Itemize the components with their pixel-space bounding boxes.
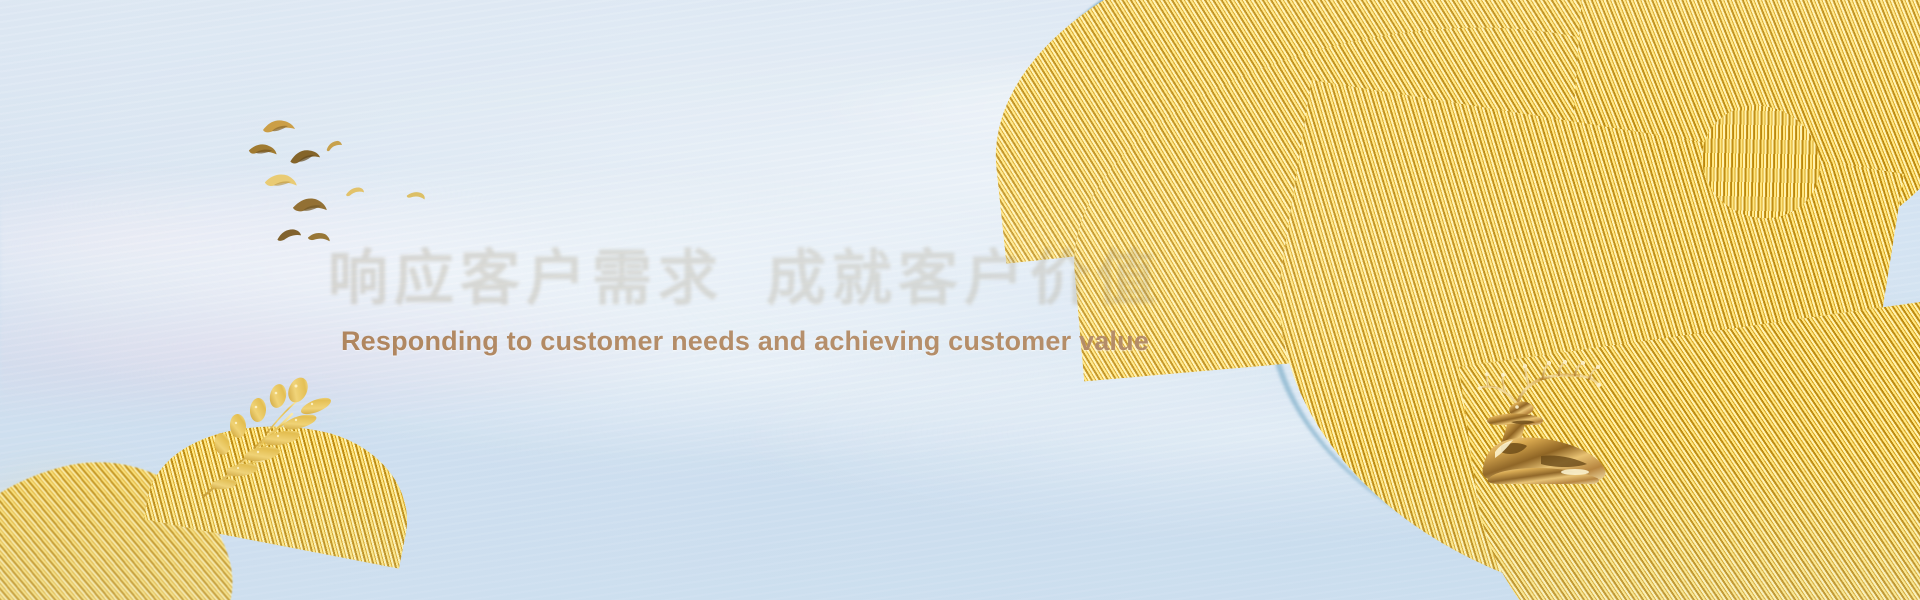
bird-icon — [324, 138, 344, 154]
bird-icon — [275, 226, 303, 245]
bird-icon — [263, 170, 299, 193]
banner-subtitle: Responding to customer needs and achievi… — [0, 326, 1490, 357]
banner-text-block: 响应客户需求 成就客户价值 Responding to customer nee… — [0, 246, 1490, 357]
vein-shadow-right — [1231, 108, 1857, 600]
gold-vein-lower-right — [1446, 298, 1920, 600]
gold-glow-upper — [1180, 0, 1600, 170]
bird-icon — [262, 118, 296, 138]
gold-vein-descending — [1222, 75, 1908, 600]
vein-shadow-middle — [1078, 0, 1742, 356]
bird-icon — [288, 146, 322, 168]
bird-icon — [405, 187, 428, 205]
gold-vein-upper-arc — [970, 0, 1666, 267]
teal-marble-pool-main — [1175, 0, 1920, 200]
golden-deer-icon — [1455, 360, 1635, 490]
bird-icon — [306, 229, 333, 249]
gold-vein-second-band — [1051, 0, 1775, 385]
bird-icon — [291, 195, 328, 219]
vein-shadow-upper — [997, 0, 1644, 243]
hero-banner: 响应客户需求 成就客户价值 Responding to customer nee… — [0, 0, 1920, 600]
gold-glow-hook — [1560, 40, 1890, 300]
teal-marble-pool-secondary — [1640, 0, 1920, 150]
bird-icon — [345, 185, 366, 199]
banner-headline: 响应客户需求 成就客户价值 — [0, 246, 1490, 310]
gold-vein-right-hook — [1546, 0, 1920, 281]
bird-icon — [247, 140, 280, 163]
gold-vein-inner-curl — [1667, 70, 1854, 253]
